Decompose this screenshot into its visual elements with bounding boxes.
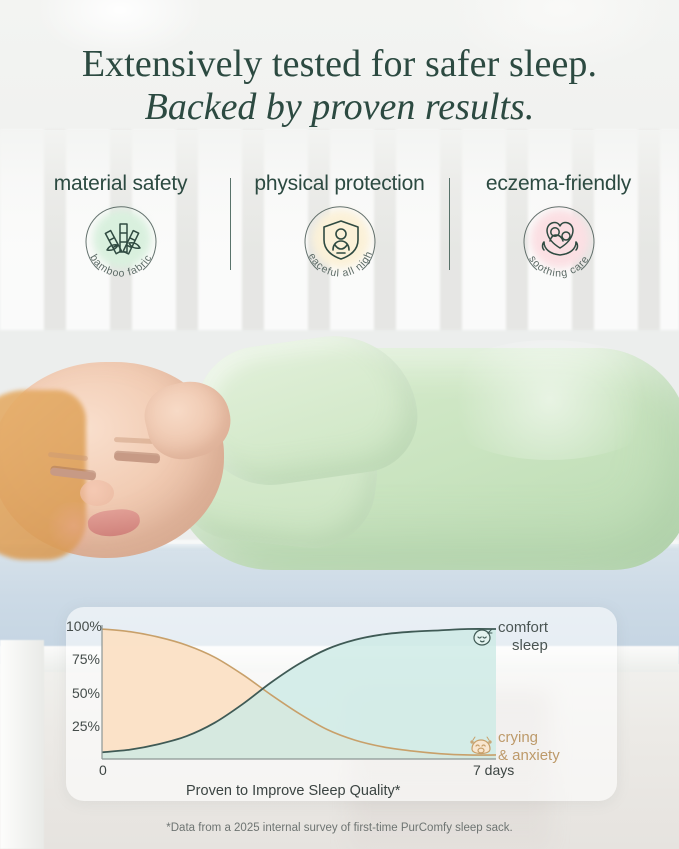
infographic-stage: Extensively tested for safer sleep. Back… [0, 0, 679, 849]
y-tick-50: 50% [66, 685, 100, 701]
x-tick-7days: 7 days [473, 762, 514, 778]
legend-crying-line1: crying [498, 729, 560, 747]
legend-comfort-line1: comfort [498, 619, 548, 637]
badge-title: material safety [54, 172, 188, 196]
badge-title: physical protection [254, 172, 424, 196]
headline-line-1: Extensively tested for safer sleep. [0, 44, 679, 85]
headline-line-2: Backed by proven results. [0, 87, 679, 128]
legend-comfort-line2: sleep [498, 637, 548, 655]
chart-areas [102, 629, 496, 759]
badge-physical-protection[interactable]: physical protection peaceful all night [231, 172, 449, 284]
baby-eye-right [114, 452, 160, 463]
y-tick-75: 75% [66, 651, 100, 667]
legend-comfort-sleep: comfort sleep [498, 619, 548, 654]
hands-heart-baby-icon [535, 214, 585, 264]
shield-baby-icon [316, 214, 366, 264]
badge-emblem: soothing care [517, 200, 601, 284]
sleep-quality-chart-card: 100% 75% 50% 25% 0 7 days Proven to Impr… [66, 607, 617, 801]
sleeping-baby-face-icon [470, 625, 496, 649]
badge-title: eczema-friendly [486, 172, 631, 196]
crib-post [0, 640, 44, 849]
chart-caption: Proven to Improve Sleep Quality* [186, 783, 400, 799]
sleep-sack-highlight [430, 340, 670, 460]
baby-brow-right [114, 437, 154, 444]
badge-material-safety[interactable]: material safety bamboo fabric [12, 172, 230, 284]
sleeping-baby [0, 330, 679, 580]
legend-crying-anxiety: crying & anxiety [498, 729, 560, 764]
badge-eczema-friendly[interactable]: eczema-friendly soothing care [450, 172, 668, 284]
chart-plot-region: 100% 75% 50% 25% 0 7 days Proven to Impr… [66, 607, 617, 801]
y-tick-25: 25% [66, 718, 100, 734]
y-tick-100: 100% [66, 618, 100, 634]
crying-baby-face-icon [468, 733, 496, 759]
badge-emblem: bamboo fabric [79, 200, 163, 284]
x-tick-0: 0 [99, 762, 107, 778]
badge-emblem: peaceful all night [298, 200, 382, 284]
bamboo-stalks-icon [97, 214, 147, 264]
page-headline: Extensively tested for safer sleep. Back… [0, 44, 679, 128]
footnote: *Data from a 2025 internal survey of fir… [0, 822, 679, 834]
feature-badges: material safety bamboo fabric [0, 172, 679, 290]
baby-nose [80, 480, 114, 506]
legend-crying-line2: & anxiety [498, 747, 560, 765]
